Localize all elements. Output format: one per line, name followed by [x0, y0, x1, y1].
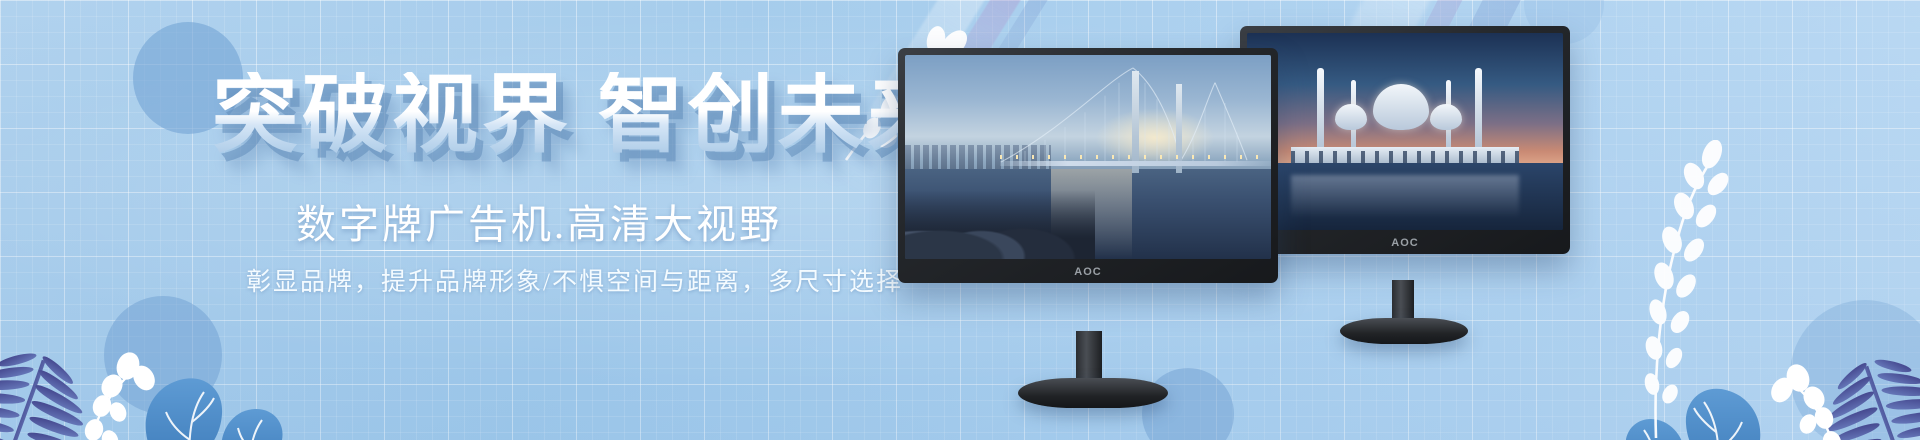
- product-group: AOC: [880, 0, 1920, 440]
- copy-block: 突破视界 智创未来 数字牌广告机.高清大视野 彰显品牌，提升品牌形象/不惧空间与…: [0, 0, 1000, 440]
- monitor-stand-base: [1018, 378, 1168, 408]
- bridge-deck: [1000, 161, 1271, 166]
- monitor-bezel: AOC: [1240, 26, 1570, 254]
- foreground-rocks: [905, 190, 1095, 259]
- headline: 突破视界 智创未来: [212, 72, 958, 158]
- promo-banner: 突破视界 智创未来 数字牌广告机.高清大视野 彰显品牌，提升品牌形象/不惧空间与…: [0, 0, 1920, 440]
- monitor-bezel: AOC: [898, 48, 1278, 283]
- screen-reflection: [1291, 175, 1519, 218]
- subtitle: 数字牌广告机.高清大视野: [296, 192, 782, 250]
- bridge-pylon: [1176, 84, 1182, 174]
- dome: [1430, 104, 1462, 130]
- minaret: [1317, 68, 1324, 159]
- monitor-screen: [905, 55, 1271, 259]
- monitor-screen: [1247, 33, 1563, 230]
- brand-logo: AOC: [1391, 237, 1418, 249]
- tagline: 彰显品牌，提升品牌形象/不惧空间与距离，多尺寸选择: [246, 262, 903, 298]
- monitor-stand-neck: [1076, 331, 1102, 385]
- monitor-stand-base: [1340, 318, 1468, 344]
- bridge-lights: [1000, 155, 1271, 159]
- brand-logo: AOC: [1074, 266, 1101, 278]
- minaret: [1475, 68, 1482, 159]
- divider: [276, 250, 836, 251]
